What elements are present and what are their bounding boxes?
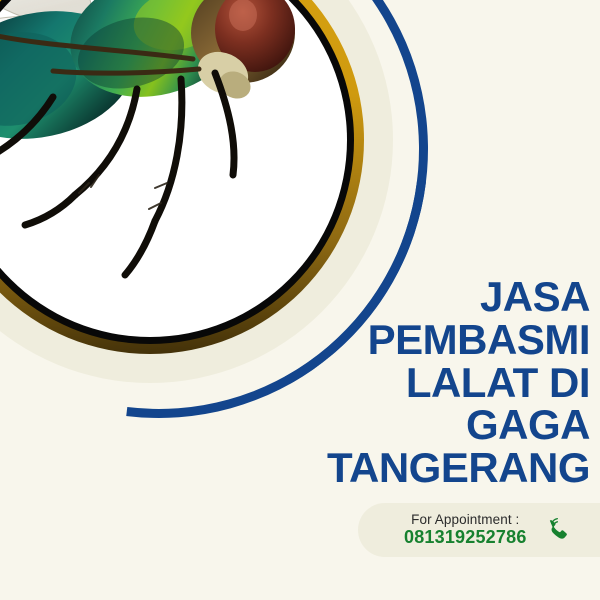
appointment-text: For Appointment : 081319252786	[404, 512, 527, 547]
appointment-cta[interactable]: For Appointment : 081319252786	[358, 503, 600, 557]
headline-line-1: JASA	[170, 276, 590, 319]
poster-canvas: JASA PEMBASMI LALAT DI GAGA TANGERANG Fo…	[0, 0, 600, 600]
fly-illustration	[0, 0, 313, 303]
headline-line-4: GAGA	[170, 404, 590, 447]
phone-handset-icon[interactable]	[543, 513, 577, 547]
headline-line-3: LALAT DI	[170, 362, 590, 405]
appointment-label: For Appointment :	[404, 512, 527, 527]
appointment-phone-number[interactable]: 081319252786	[404, 527, 527, 547]
headline: JASA PEMBASMI LALAT DI GAGA TANGERANG	[170, 276, 590, 490]
headline-line-5: TANGERANG	[170, 447, 590, 490]
headline-line-2: PEMBASMI	[170, 319, 590, 362]
